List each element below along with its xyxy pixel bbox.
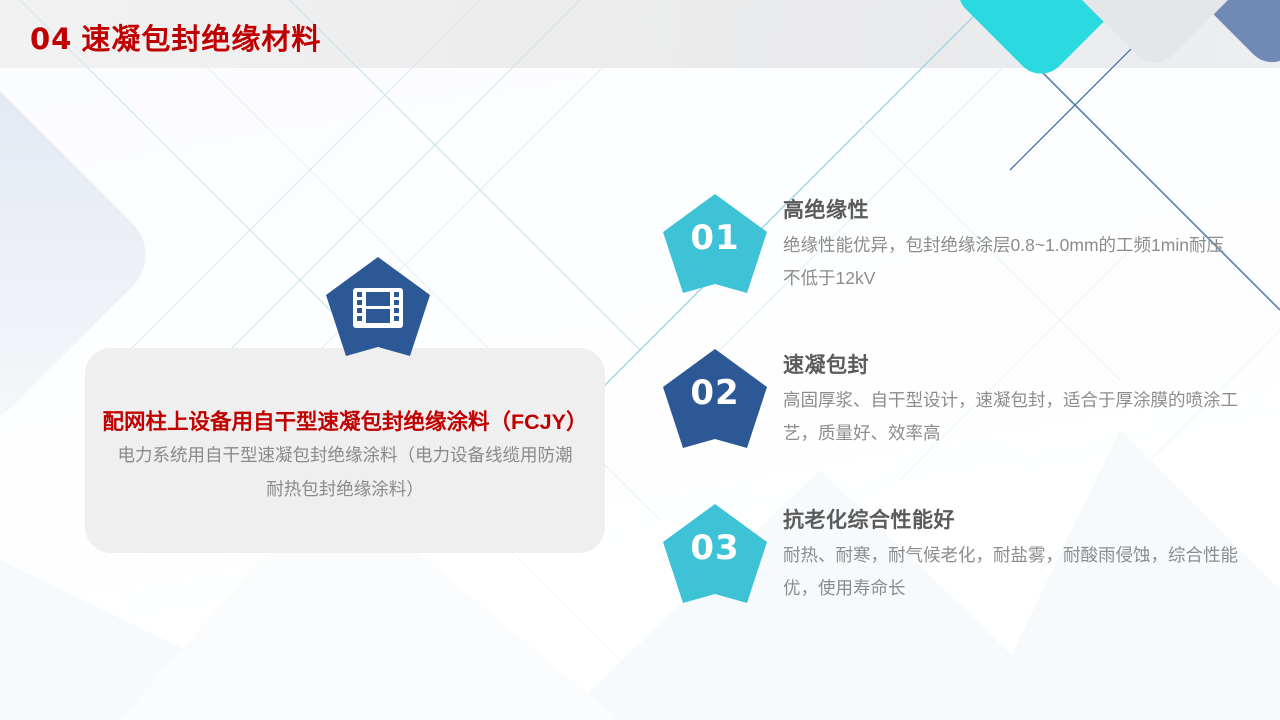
feature-number: 01 <box>660 218 770 258</box>
feature-description: 绝缘性能优异，包封绝缘涂层0.8~1.0mm的工频1min耐压不低于12kV <box>783 229 1238 295</box>
feature-title: 高绝缘性 <box>783 196 1238 226</box>
feature-item: 01 高绝缘性 绝缘性能优异，包封绝缘涂层0.8~1.0mm的工频1min耐压不… <box>660 192 1240 347</box>
feature-description: 耐热、耐寒，耐气候老化，耐盐雾，耐酸雨侵蚀，综合性能优，使用寿命长 <box>783 539 1238 605</box>
feature-description: 高固厚浆、自干型设计，速凝包封，适合于厚涂膜的喷涂工艺，质量好、效率高 <box>783 384 1238 450</box>
feature-item: 03 抗老化综合性能好 耐热、耐寒，耐气候老化，耐盐雾，耐酸雨侵蚀，综合性能优，… <box>660 502 1240 657</box>
page-title: 04速凝包封绝缘材料 <box>30 16 321 58</box>
feature-number: 02 <box>660 373 770 413</box>
page-title-text: 速凝包封绝缘材料 <box>81 24 321 56</box>
feature-title: 速凝包封 <box>783 351 1238 381</box>
feature-text-block: 抗老化综合性能好 耐热、耐寒，耐气候老化，耐盐雾，耐酸雨侵蚀，综合性能优，使用寿… <box>783 506 1238 605</box>
page-title-number: 04 <box>30 22 72 56</box>
feature-number: 03 <box>660 528 770 568</box>
feature-text-block: 高绝缘性 绝缘性能优异，包封绝缘涂层0.8~1.0mm的工频1min耐压不低于1… <box>783 196 1238 295</box>
product-title: 配网柱上设备用自干型速凝包封绝缘涂料（FCJY） <box>85 405 605 436</box>
feature-text-block: 速凝包封 高固厚浆、自干型设计，速凝包封，适合于厚涂膜的喷涂工艺，质量好、效率高 <box>783 351 1238 450</box>
product-pentagon-badge <box>323 255 433 359</box>
product-subtitle: 电力系统用自干型速凝包封绝缘涂料（电力设备线缆用防潮耐热包封绝缘涂料） <box>115 438 575 506</box>
feature-list: 01 高绝缘性 绝缘性能优异，包封绝缘涂层0.8~1.0mm的工频1min耐压不… <box>660 192 1240 657</box>
feature-item: 02 速凝包封 高固厚浆、自干型设计，速凝包封，适合于厚涂膜的喷涂工艺，质量好、… <box>660 347 1240 502</box>
slide-header: 04速凝包封绝缘材料 <box>0 0 1280 68</box>
feature-title: 抗老化综合性能好 <box>783 506 1238 536</box>
